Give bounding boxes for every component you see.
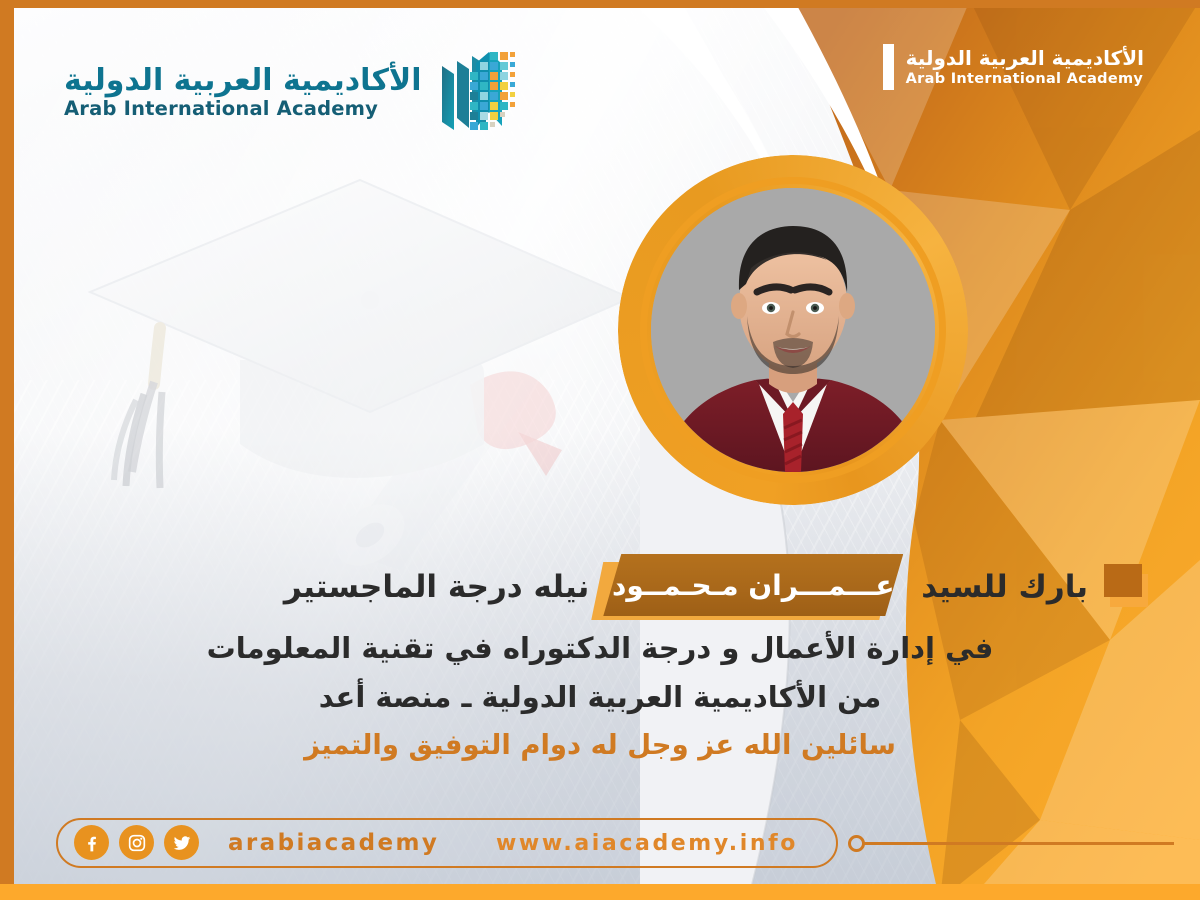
honoree-name-banner: عـــمـــران مـحـمــود: [603, 554, 903, 620]
headline-suffix: نيله درجة الماجستير: [284, 569, 589, 605]
footer-circle-marker: [848, 835, 865, 852]
graduation-artwork: [70, 150, 690, 570]
body-line-2: من الأكاديمية العربية الدولية ـ منصة أعد: [56, 683, 1144, 712]
academy-logo-text: الأكاديمية العربية الدولية Arab Internat…: [64, 65, 422, 119]
logo-accent-bar: [883, 44, 894, 90]
frame-bottom-border: [0, 884, 1200, 900]
double-square-decoration: [1104, 564, 1150, 610]
social-handle[interactable]: arabiacademy: [228, 830, 439, 856]
academy-logo-english: Arab International Academy: [64, 99, 422, 119]
twitter-icon[interactable]: [164, 825, 199, 860]
footer-line: [864, 842, 1174, 845]
congratulations-card: الأكاديمية العربية الدولية Arab Internat…: [0, 0, 1200, 900]
instagram-icon[interactable]: [119, 825, 154, 860]
academy-logo-white-arabic: الأكاديمية العربية الدولية: [906, 47, 1144, 70]
name-banner-body: عـــمـــران مـحـمــود: [603, 554, 903, 616]
academy-logo-white: الأكاديمية العربية الدولية Arab Internat…: [883, 44, 1144, 90]
academy-logo-arabic: الأكاديمية العربية الدولية: [64, 65, 422, 97]
graduation-cap-icon: [90, 180, 630, 488]
website-url[interactable]: www.aiacademy.info: [496, 831, 798, 856]
academy-logo-white-text: الأكاديمية العربية الدولية Arab Internat…: [906, 47, 1144, 88]
headline-row: بارك للسيد عـــمـــران مـحـمــود نيله در…: [56, 552, 1150, 622]
body-text: في إدارة الأعمال و درجة الدكتوراه في تقن…: [56, 634, 1144, 760]
facebook-icon[interactable]: [74, 825, 109, 860]
headline-prefix: بارك للسيد: [921, 569, 1088, 605]
portrait-photo: [651, 188, 935, 472]
square-decoration-front: [1104, 564, 1142, 597]
academy-logo: الأكاديمية العربية الدولية Arab Internat…: [64, 48, 541, 136]
honoree-portrait: [618, 155, 968, 505]
body-line-1: في إدارة الأعمال و درجة الدكتوراه في تقن…: [56, 634, 1144, 663]
frame-top-border: [0, 0, 1200, 8]
social-links: [74, 825, 199, 860]
academy-logo-white-english: Arab International Academy: [906, 71, 1144, 88]
footer-bar: arabiacademy www.aiacademy.info: [56, 818, 1176, 874]
body-accent-line: سائلين الله عز وجل له دوام التوفيق والتم…: [56, 732, 1144, 760]
open-book-mosaic-icon: [436, 48, 541, 136]
honoree-name: عـــمـــران مـحـمــود: [612, 569, 894, 602]
frame-left-border: [0, 0, 14, 900]
